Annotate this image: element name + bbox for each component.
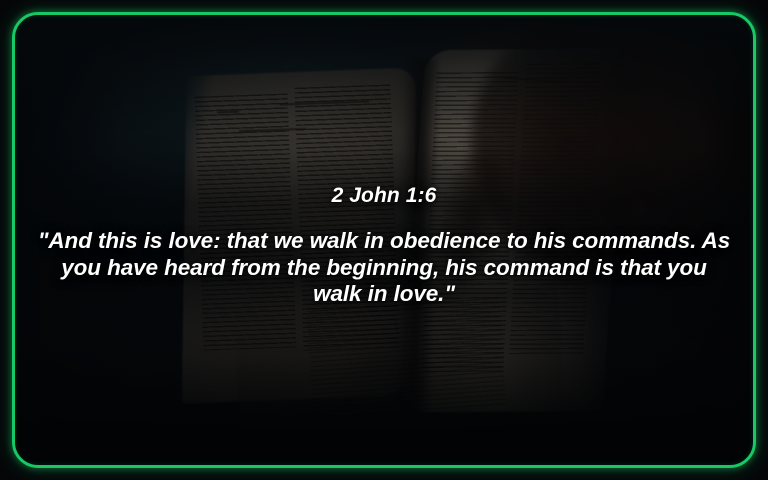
photo-vignette bbox=[13, 13, 755, 467]
background-photo bbox=[13, 13, 755, 467]
verse-image-card: 2 John 1:6 "And this is love: that we wa… bbox=[0, 0, 768, 480]
